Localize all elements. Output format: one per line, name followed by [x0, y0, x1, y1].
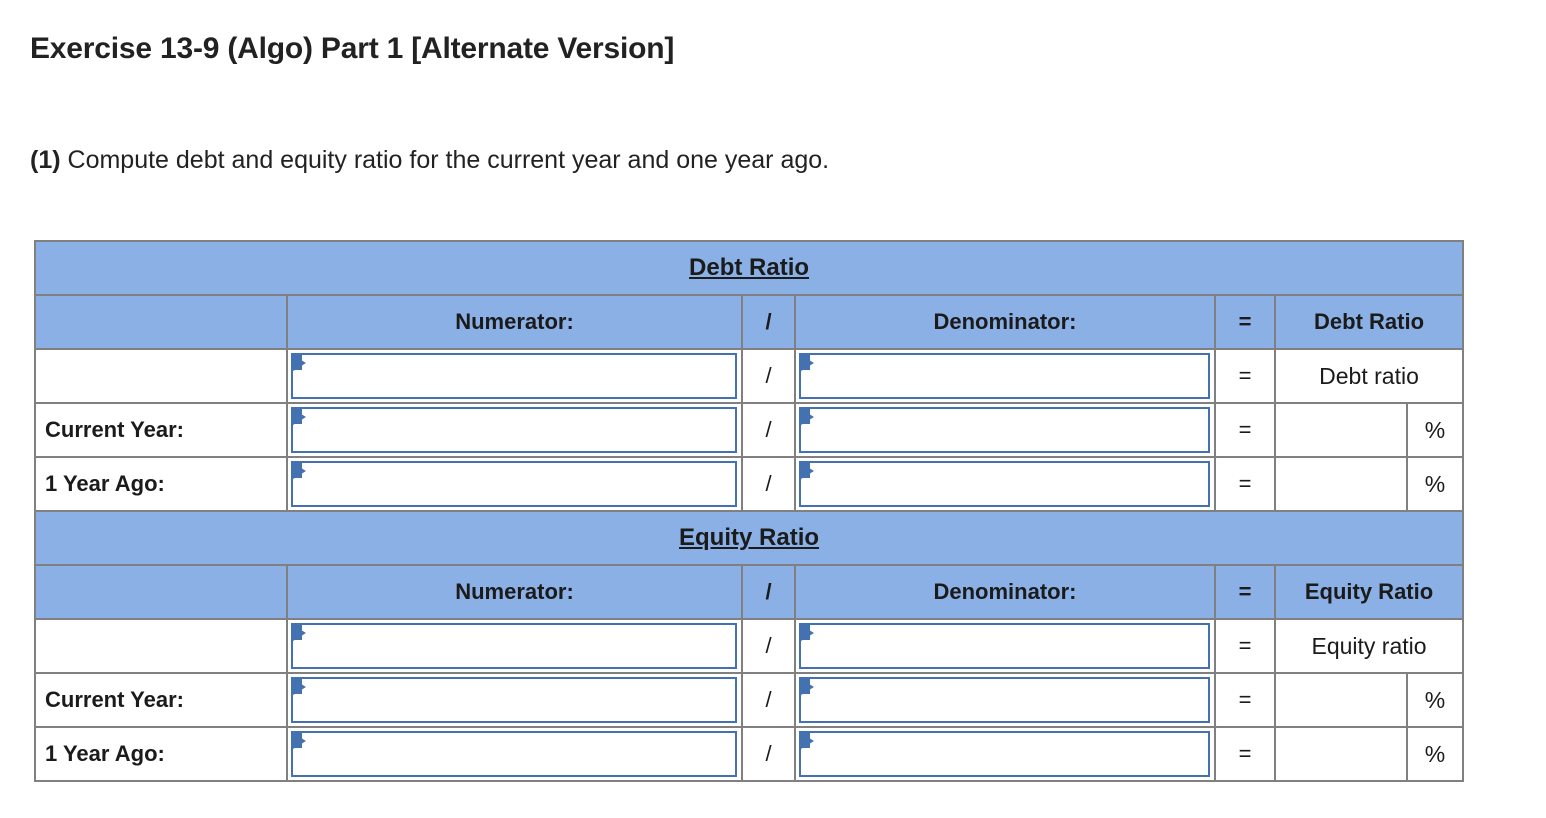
- input-box[interactable]: [799, 623, 1210, 669]
- section-band-debt: Debt Ratio: [35, 241, 1463, 295]
- input-box[interactable]: [291, 407, 737, 453]
- header-cell-result-equity: Equity Ratio: [1275, 565, 1463, 619]
- percent-sign-debt-current-year: %: [1407, 403, 1463, 457]
- slash-cell-equity-formula: /: [742, 619, 795, 673]
- equals-cell-equity-formula: =: [1215, 619, 1275, 673]
- header-cell-slash-equity: /: [742, 565, 795, 619]
- dropdown-triangle-icon: [293, 355, 306, 371]
- equals-cell-debt-one-year-ago: =: [1215, 457, 1275, 511]
- input-box[interactable]: [799, 407, 1210, 453]
- header-cell-denominator-equity: Denominator:: [795, 565, 1215, 619]
- numerator-input-debt-current-year[interactable]: [287, 403, 742, 457]
- percent-sign-equity-current-year: %: [1407, 673, 1463, 727]
- result-value-equity-current-year[interactable]: [1275, 673, 1407, 727]
- header-cell-numerator-equity: Numerator:: [287, 565, 742, 619]
- input-box[interactable]: [799, 461, 1210, 507]
- table-row: 1 Year Ago: / =: [35, 457, 1463, 511]
- instruction-text: Compute debt and equity ratio for the cu…: [68, 146, 830, 174]
- row-label-equity-current-year: Current Year:: [35, 673, 287, 727]
- dropdown-triangle-icon: [801, 733, 814, 749]
- slash-cell-debt-current-year: /: [742, 403, 795, 457]
- column-header-row-equity: Numerator: / Denominator: = Equity Ratio: [35, 565, 1463, 619]
- input-box[interactable]: [291, 731, 737, 777]
- dropdown-triangle-icon: [293, 463, 306, 479]
- header-cell-equals-equity: =: [1215, 565, 1275, 619]
- input-box[interactable]: [799, 677, 1210, 723]
- numerator-input-debt-one-year-ago[interactable]: [287, 457, 742, 511]
- section-band-row-equity: Equity Ratio: [35, 511, 1463, 565]
- header-cell-equals-debt: =: [1215, 295, 1275, 349]
- numerator-input-equity-one-year-ago[interactable]: [287, 727, 742, 781]
- denominator-input-equity-formula[interactable]: [795, 619, 1215, 673]
- header-cell-denominator-debt: Denominator:: [795, 295, 1215, 349]
- row-label-equity-one-year-ago: 1 Year Ago:: [35, 727, 287, 781]
- result-value-debt-current-year[interactable]: [1275, 403, 1407, 457]
- input-box[interactable]: [291, 461, 737, 507]
- row-label-debt-current-year: Current Year:: [35, 403, 287, 457]
- table-row: Current Year: / =: [35, 403, 1463, 457]
- table-row: / = Equity ratio: [35, 619, 1463, 673]
- section-band-equity: Equity Ratio: [35, 511, 1463, 565]
- page-title: Exercise 13-9 (Algo) Part 1 [Alternate V…: [30, 32, 674, 66]
- dropdown-triangle-icon: [293, 679, 306, 695]
- header-cell-numerator-debt: Numerator:: [287, 295, 742, 349]
- input-box[interactable]: [291, 623, 737, 669]
- table-row: 1 Year Ago: / =: [35, 727, 1463, 781]
- numerator-input-equity-formula[interactable]: [287, 619, 742, 673]
- slash-cell-debt-formula: /: [742, 349, 795, 403]
- equals-cell-debt-current-year: =: [1215, 403, 1275, 457]
- header-cell-label-debt: [35, 295, 287, 349]
- equals-cell-equity-current-year: =: [1215, 673, 1275, 727]
- section-band-row-debt: Debt Ratio: [35, 241, 1463, 295]
- denominator-input-debt-current-year[interactable]: [795, 403, 1215, 457]
- input-box[interactable]: [291, 353, 737, 399]
- instruction-step-number: (1): [30, 146, 61, 174]
- row-label-debt-formula: [35, 349, 287, 403]
- result-value-equity-one-year-ago[interactable]: [1275, 727, 1407, 781]
- denominator-input-debt-formula[interactable]: [795, 349, 1215, 403]
- header-cell-label-equity: [35, 565, 287, 619]
- ratio-table: Debt Ratio Numerator: / Denominator: = D…: [34, 240, 1464, 782]
- input-box[interactable]: [799, 353, 1210, 399]
- dropdown-triangle-icon: [801, 679, 814, 695]
- input-box[interactable]: [291, 677, 737, 723]
- slash-cell-equity-current-year: /: [742, 673, 795, 727]
- row-label-debt-one-year-ago: 1 Year Ago:: [35, 457, 287, 511]
- result-label-debt-formula: Debt ratio: [1275, 349, 1463, 403]
- percent-sign-equity-one-year-ago: %: [1407, 727, 1463, 781]
- exercise-page: Exercise 13-9 (Algo) Part 1 [Alternate V…: [0, 0, 1546, 818]
- section-band-title-equity: Equity Ratio: [679, 524, 819, 552]
- table-row: Current Year: / =: [35, 673, 1463, 727]
- ratio-table-container: Debt Ratio Numerator: / Denominator: = D…: [34, 240, 1464, 782]
- dropdown-triangle-icon: [801, 463, 814, 479]
- denominator-input-equity-one-year-ago[interactable]: [795, 727, 1215, 781]
- dropdown-triangle-icon: [293, 625, 306, 641]
- equals-cell-debt-formula: =: [1215, 349, 1275, 403]
- numerator-input-debt-formula[interactable]: [287, 349, 742, 403]
- instruction-line: (1) Compute debt and equity ratio for th…: [30, 146, 829, 175]
- slash-cell-debt-one-year-ago: /: [742, 457, 795, 511]
- dropdown-triangle-icon: [801, 625, 814, 641]
- numerator-input-equity-current-year[interactable]: [287, 673, 742, 727]
- column-header-row-debt: Numerator: / Denominator: = Debt Ratio: [35, 295, 1463, 349]
- dropdown-triangle-icon: [801, 409, 814, 425]
- header-cell-slash-debt: /: [742, 295, 795, 349]
- header-cell-result-debt: Debt Ratio: [1275, 295, 1463, 349]
- table-row: / = Debt ratio: [35, 349, 1463, 403]
- denominator-input-debt-one-year-ago[interactable]: [795, 457, 1215, 511]
- result-label-equity-formula: Equity ratio: [1275, 619, 1463, 673]
- equals-cell-equity-one-year-ago: =: [1215, 727, 1275, 781]
- dropdown-triangle-icon: [293, 733, 306, 749]
- section-band-title-debt: Debt Ratio: [689, 254, 809, 282]
- input-box[interactable]: [799, 731, 1210, 777]
- row-label-equity-formula: [35, 619, 287, 673]
- percent-sign-debt-one-year-ago: %: [1407, 457, 1463, 511]
- dropdown-triangle-icon: [293, 409, 306, 425]
- result-value-debt-one-year-ago[interactable]: [1275, 457, 1407, 511]
- denominator-input-equity-current-year[interactable]: [795, 673, 1215, 727]
- slash-cell-equity-one-year-ago: /: [742, 727, 795, 781]
- dropdown-triangle-icon: [801, 355, 814, 371]
